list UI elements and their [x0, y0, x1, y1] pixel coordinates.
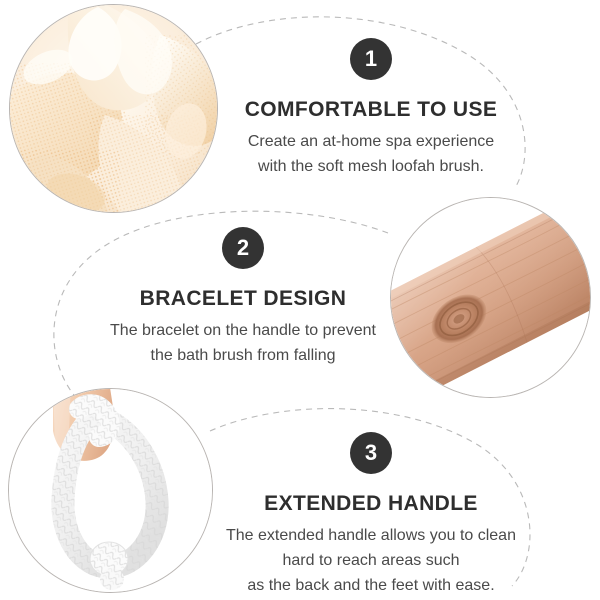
bracelet-rope-image — [9, 389, 213, 593]
photo-loofah-mesh — [9, 4, 218, 213]
feature-headline-1: COMFORTABLE TO USE — [216, 98, 526, 122]
feature-headline-2: BRACELET DESIGN — [88, 287, 398, 311]
feature-badge-2: 2 — [222, 227, 264, 269]
feature-block-2: 2 BRACELET DESIGN The bracelet on the ha… — [88, 227, 398, 368]
feature-block-3: 3 EXTENDED HANDLE The extended handle al… — [216, 432, 526, 598]
feature-badge-3: 3 — [350, 432, 392, 474]
loofah-mesh-image — [10, 5, 218, 213]
feature-body-1-line-1: Create an at-home spa experience — [216, 129, 526, 154]
feature-headline-3: EXTENDED HANDLE — [216, 492, 526, 516]
photo-wooden-handle — [390, 197, 591, 398]
feature-badge-1: 1 — [350, 38, 392, 80]
wooden-handle-image — [391, 198, 591, 398]
feature-body-3-line-1: The extended handle allows you to clean — [216, 523, 526, 548]
feature-body-2-line-2: the bath brush from falling — [88, 343, 398, 368]
feature-body-3-line-2: hard to reach areas such — [216, 548, 526, 573]
photo-bracelet-rope — [8, 388, 213, 593]
feature-body-1-line-2: with the soft mesh loofah brush. — [216, 154, 526, 179]
feature-body-2-line-1: The bracelet on the handle to prevent — [88, 318, 398, 343]
feature-block-1: 1 COMFORTABLE TO USE Create an at-home s… — [216, 38, 526, 179]
infographic-canvas: 1 COMFORTABLE TO USE Create an at-home s… — [0, 0, 600, 600]
feature-body-3-line-3: as the back and the feet with ease. — [216, 573, 526, 598]
